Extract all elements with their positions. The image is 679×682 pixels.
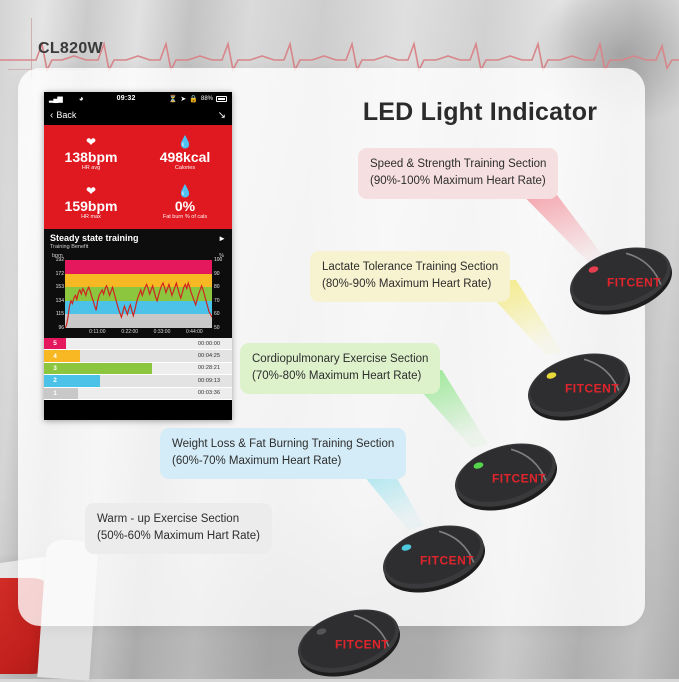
stat-caption: Calories — [175, 165, 195, 172]
svg-text:FITCENT: FITCENT — [335, 637, 389, 651]
callout-speed-strength: Speed & Strength Training Section (90%-1… — [358, 148, 558, 199]
svg-text:FITCENT: FITCENT — [607, 275, 661, 289]
y2-tick: 100 — [214, 257, 222, 263]
zone-time: 00:28:21 — [186, 365, 232, 371]
callout-line2: (80%-90% Maximum Heart Rate) — [322, 276, 498, 293]
zone-bar-track — [66, 338, 186, 349]
back-label: Back — [56, 110, 76, 120]
y-tick: 153 — [56, 284, 64, 290]
callout-line1: Cordiopulmonary Exercise Section — [252, 351, 428, 368]
zone-row: 500:00:00 — [44, 338, 232, 350]
stat-hr-max: ❤ 159bpm HR max — [44, 178, 138, 227]
zone-label: 1 — [44, 388, 66, 399]
stat-value: 159bpm — [65, 198, 118, 214]
svg-text:FITCENT: FITCENT — [492, 471, 546, 485]
callout-warm-up: Warm - up Exercise Section (50%-60% Maxi… — [85, 503, 272, 554]
stats-grid: ❤ 138bpm HR avg 💧 498kcal Calories ❤ 159… — [44, 125, 232, 229]
stat-caption: HR avg — [82, 165, 100, 172]
y-tick: 172 — [56, 271, 64, 277]
location-icon: ➤ — [180, 95, 186, 103]
device-off[interactable]: FITCENT — [290, 604, 408, 682]
zone-row: 100:03:36 — [44, 388, 232, 400]
stat-caption: Fat burn % of cals — [163, 214, 207, 221]
stat-value: 138bpm — [65, 149, 118, 165]
zone-table: 500:00:00400:04:25300:28:21200:09:13100:… — [44, 338, 232, 400]
zone-bar-track — [66, 388, 186, 399]
zone-time: 00:09:13 — [186, 378, 232, 384]
zone-bar-track — [66, 375, 186, 386]
chart-plot-area: 19217215313411596 1009080706050 — [50, 260, 226, 328]
callout-line2: (60%-70% Maximum Heart Rate) — [172, 453, 394, 470]
x-tick: 0:11:00 — [89, 329, 105, 335]
hr-series-line — [65, 260, 212, 328]
play-icon[interactable]: ► — [218, 234, 226, 243]
model-label: CL820W — [38, 40, 103, 58]
callout-line2: (70%-80% Maximum Heart Rate) — [252, 368, 428, 385]
device-green[interactable]: FITCENT — [447, 438, 565, 516]
zone-bar — [66, 363, 152, 374]
callout-line1: Speed & Strength Training Section — [370, 156, 546, 173]
zone-time: 00:00:00 — [186, 341, 232, 347]
flame-icon: 💧 — [178, 185, 193, 198]
wifi-icon: ◕ — [79, 94, 84, 103]
page-title: LED Light Indicator — [330, 98, 630, 127]
battery-percent: 88% — [201, 96, 213, 102]
y2-tick: 70 — [214, 298, 220, 304]
phone-status-bar: ▂▄▆ ◕ 09:32 ⏳ ➤ 🔒 88% — [44, 92, 232, 105]
x-axis-ticks: 0:11:000:22:000:33:000:44:00 — [65, 328, 212, 338]
share-icon[interactable]: ↘ — [218, 110, 226, 121]
callout-lactate-tolerance: Lactate Tolerance Training Section (80%-… — [310, 251, 510, 302]
phone-nav-bar: ‹ Back ↘ — [44, 105, 232, 125]
y-tick: 96 — [58, 325, 64, 331]
status-time: 09:32 — [117, 95, 136, 102]
chart-header: Steady state training ► — [50, 233, 226, 243]
phone-screenshot: ▂▄▆ ◕ 09:32 ⏳ ➤ 🔒 88% ‹ Back ↘ ❤ 138bpm … — [44, 92, 232, 420]
svg-text:FITCENT: FITCENT — [420, 553, 474, 567]
y2-tick: 90 — [214, 271, 220, 277]
zone-bar — [66, 350, 80, 361]
heart-icon: ❤ — [86, 185, 96, 198]
x-tick: 0:22:00 — [121, 329, 138, 335]
zone-label: 3 — [44, 363, 66, 374]
chart-title: Steady state training — [50, 233, 139, 243]
stat-value: 498kcal — [160, 149, 211, 165]
zone-bar-track — [66, 363, 186, 374]
y-axis-ticks: 19217215313411596 — [50, 260, 65, 328]
zone-row: 200:09:13 — [44, 375, 232, 387]
zone-label: 2 — [44, 375, 66, 386]
x-tick: 0:44:00 — [186, 329, 203, 335]
stat-caption: HR max — [81, 214, 101, 221]
zone-row: 300:28:21 — [44, 363, 232, 375]
chart-subtitle: Training Benefit — [50, 244, 226, 250]
y-tick: 192 — [56, 257, 64, 263]
device-yellow[interactable]: FITCENT — [520, 348, 638, 426]
y-tick: 134 — [56, 298, 64, 304]
chart-axis-captions: bpm % — [52, 253, 224, 259]
zone-bar — [66, 388, 78, 399]
y2-tick: 50 — [214, 325, 220, 331]
back-button[interactable]: ‹ Back — [50, 110, 76, 121]
hr-chart-section: Steady state training ► Training Benefit… — [44, 229, 232, 338]
lock-icon: 🔒 — [189, 95, 198, 103]
y2-tick: 80 — [214, 284, 220, 290]
zone-row: 400:04:25 — [44, 350, 232, 362]
svg-text:FITCENT: FITCENT — [565, 381, 619, 395]
y-tick: 115 — [56, 311, 64, 317]
callout-line1: Lactate Tolerance Training Section — [322, 259, 498, 276]
battery-icon — [216, 96, 227, 102]
zone-bar — [66, 375, 100, 386]
x-tick: 0:33:00 — [154, 329, 171, 335]
chart-canvas — [65, 260, 212, 328]
callout-cardiopulmonary: Cordiopulmonary Exercise Section (70%-80… — [240, 343, 440, 394]
device-red[interactable]: FITCENT — [562, 242, 679, 320]
flame-icon: 💧 — [178, 136, 193, 149]
callout-line1: Warm - up Exercise Section — [97, 511, 260, 528]
zone-bar-track — [66, 350, 186, 361]
callout-line2: (50%-60% Maximum Hart Rate) — [97, 528, 260, 545]
device-blue[interactable]: FITCENT — [375, 520, 493, 598]
stat-value: 0% — [175, 198, 195, 214]
stat-hr-avg: ❤ 138bpm HR avg — [44, 129, 138, 178]
callout-line2: (90%-100% Maximum Heart Rate) — [370, 173, 546, 190]
signal-icon: ▂▄▆ — [49, 95, 62, 103]
zone-time: 00:03:36 — [186, 390, 232, 396]
stat-fat-burn: 💧 0% Fat burn % of cals — [138, 178, 232, 227]
y2-axis-ticks: 1009080706050 — [212, 260, 226, 328]
callout-line1: Weight Loss & Fat Burning Training Secti… — [172, 436, 394, 453]
callout-weight-loss: Weight Loss & Fat Burning Training Secti… — [160, 428, 406, 479]
zone-time: 00:04:25 — [186, 353, 232, 359]
zone-label: 4 — [44, 350, 66, 361]
stat-calories: 💧 498kcal Calories — [138, 129, 232, 178]
heart-icon: ❤ — [86, 136, 96, 149]
y2-tick: 60 — [214, 311, 220, 317]
zone-label: 5 — [44, 338, 66, 349]
alarm-icon: ⏳ — [169, 95, 178, 103]
chevron-left-icon: ‹ — [50, 110, 53, 121]
